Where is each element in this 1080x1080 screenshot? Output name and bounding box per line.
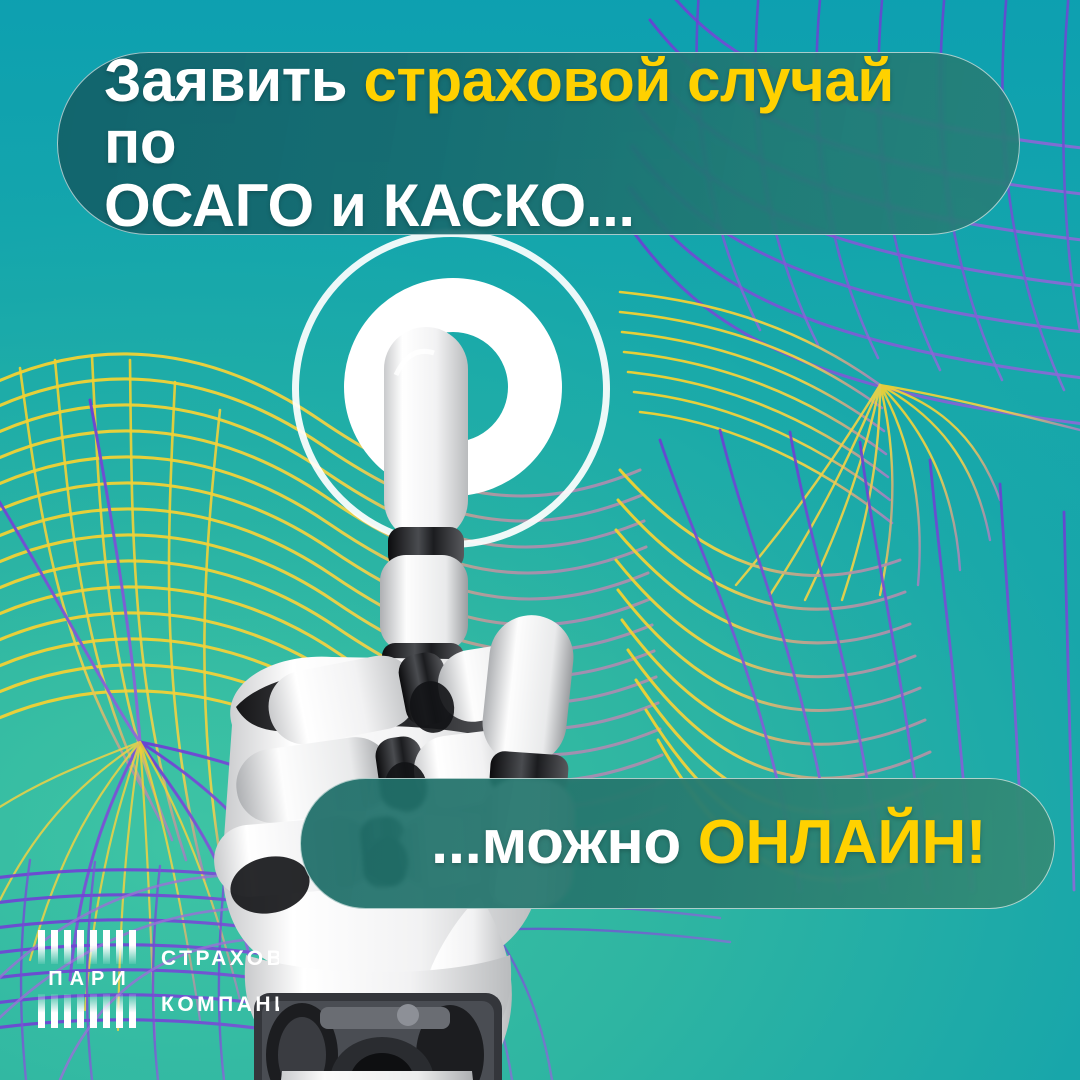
headline-top-part2: по [104,109,176,176]
headline-banner-top: Заявить страховой случай по ОСАГО и КАСК… [57,52,1020,235]
logo-bar [64,994,71,1028]
logo-bar [90,994,97,1028]
company-logo[interactable]: ПАРИ СТРАХОВАЯ КОМПАНИЯ [38,930,279,1030]
logo-bar [51,930,58,964]
logo-bar [38,994,45,1028]
logo-bar [103,930,110,964]
headline-banner-bottom: ...можно ОНЛАЙН! [300,778,1055,909]
logo-bar [77,994,84,1028]
headline-top-highlight: страховой случай [363,47,893,114]
logo-bar [51,994,58,1028]
logo-bar [90,930,97,964]
headline-bottom-text: ...можно ОНЛАЙН! [431,811,986,875]
headline-bottom-part1: ...можно [431,808,698,877]
logo-bar [129,930,136,964]
headline-top-line2: ОСАГО и КАСКО... [104,172,635,239]
logo-bar [116,930,123,964]
headline-bottom-highlight: ОНЛАЙН! [698,808,986,877]
logo-bar [116,994,123,1028]
headline-top-part1: Заявить [104,47,363,114]
logo-bar [77,930,84,964]
promo-canvas: Заявить страховой случай по ОСАГО и КАСК… [0,0,1080,1080]
logo-company-text: СТРАХОВАЯ КОМПАНИЯ [161,943,279,1017]
logo-bar [64,930,71,964]
logo-wordmark: ПАРИ [38,964,143,994]
logo-mark-pari: ПАРИ [38,930,143,1030]
logo-bar [129,994,136,1028]
logo-bar [38,930,45,964]
logo-bar [103,994,110,1028]
headline-top-text: Заявить страховой случай по ОСАГО и КАСК… [104,50,973,237]
logo-bars-top [38,930,143,964]
logo-text-line2: КОМПАНИЯ [161,993,279,1017]
logo-bars-bottom [38,994,143,1028]
logo-text-line1: СТРАХОВАЯ [161,947,279,971]
